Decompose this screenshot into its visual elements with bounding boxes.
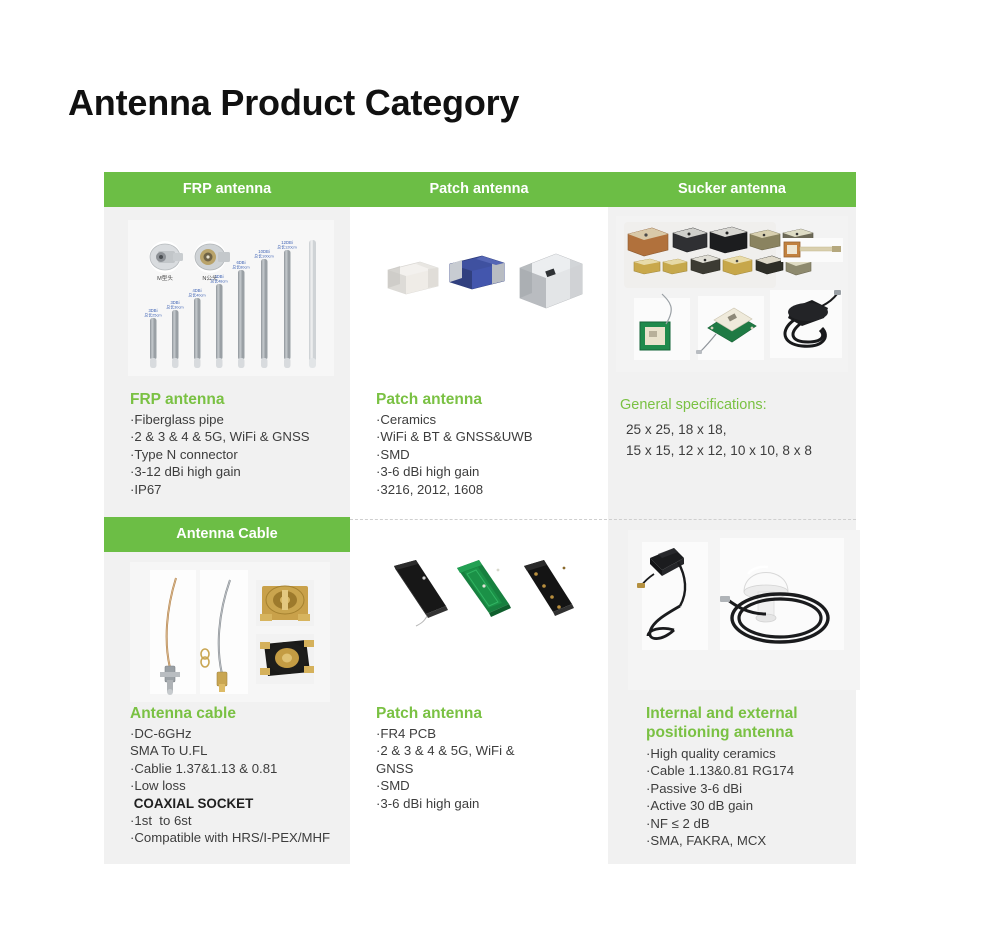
page-title: Antenna Product Category bbox=[68, 82, 519, 124]
svg-text:总长25cm: 总长25cm bbox=[144, 313, 161, 318]
header-sucker-antenna: Sucker antenna bbox=[608, 172, 856, 207]
patch-bottom-spec-1: ·2 & 3 & 4 & 5G, WiFi & bbox=[376, 742, 586, 759]
svg-text:总长120cm: 总长120cm bbox=[277, 245, 296, 250]
patch-bottom-spec-4: ·3-6 dBi high gain bbox=[376, 795, 586, 812]
positioning-antenna-heading-line1: Internal and external bbox=[646, 704, 861, 723]
frp-spec-3: ·3-12 dBi high gain bbox=[130, 463, 345, 480]
header-patch-antenna: Patch antenna bbox=[350, 172, 608, 207]
general-specifications-title: General specifications: bbox=[620, 394, 860, 416]
positioning-spec-0: ·High quality ceramics bbox=[646, 745, 861, 762]
frp-spec-4: ·IP67 bbox=[130, 481, 345, 498]
smd-chip-antennas-icon bbox=[376, 232, 586, 342]
positioning-antenna-photo bbox=[628, 530, 860, 690]
patch-bottom-spec-2: GNSS bbox=[376, 760, 586, 777]
cable-spec-2: ·Cablie 1.37&1.13 & 0.81 bbox=[130, 760, 355, 777]
product-grid: FRP antenna Patch antenna Sucker antenna… bbox=[104, 172, 856, 864]
positioning-spec-5: ·SMA, FAKRA, MCX bbox=[646, 832, 861, 849]
positioning-antenna-text: Internal and external positioning antenn… bbox=[646, 704, 861, 849]
svg-text:M型头: M型头 bbox=[157, 274, 173, 282]
frp-antenna-text: FRP antenna ·Fiberglass pipe ·2 & 3 & 4 … bbox=[130, 390, 345, 498]
svg-text:总长100cm: 总长100cm bbox=[254, 254, 273, 259]
patch-antenna-top-text: Patch antenna ·Ceramics ·WiFi & BT & GNS… bbox=[376, 390, 601, 498]
patch-top-spec-1: ·WiFi & BT & GNSS&UWB bbox=[376, 428, 601, 445]
patch-antenna-bottom-heading: Patch antenna bbox=[376, 704, 586, 723]
positioning-antenna-heading-line2: positioning antenna bbox=[646, 723, 861, 742]
frp-antenna-photo: M型头 N公头 3DBi 总长25cm bbox=[128, 220, 334, 376]
cable-spec-1: SMA To U.FL bbox=[130, 742, 355, 759]
pcb-strip-antenna-photo bbox=[372, 550, 592, 662]
svg-text:总长30cm: 总长30cm bbox=[166, 305, 183, 310]
header-frp-antenna: FRP antenna bbox=[104, 172, 350, 207]
positioning-spec-3: ·Active 30 dB gain bbox=[646, 797, 861, 814]
positioning-spec-4: ·NF ≤ 2 dB bbox=[646, 815, 861, 832]
patch-top-spec-3: ·3-6 dBi high gain bbox=[376, 463, 601, 480]
patch-top-spec-0: ·Ceramics bbox=[376, 411, 601, 428]
svg-text:总长80cm: 总长80cm bbox=[232, 265, 249, 270]
sucker-antenna-photo bbox=[616, 216, 848, 372]
patch-top-spec-4: ·3216, 2012, 1608 bbox=[376, 481, 601, 498]
cable-spec-5: ·1st to 6st bbox=[130, 812, 355, 829]
antenna-product-category-page: Antenna Product Category FRP antenna Pat… bbox=[0, 0, 983, 945]
cable-spec-4: COAXIAL SOCKET bbox=[130, 795, 355, 812]
sucker-antenna-text: General specifications: 25 x 25, 18 x 18… bbox=[620, 394, 860, 461]
svg-text:总长48cm: 总长48cm bbox=[210, 279, 227, 284]
patch-bottom-spec-0: ·FR4 PCB bbox=[376, 725, 586, 742]
svg-text:总长40cm: 总长40cm bbox=[188, 293, 205, 298]
gnss-positioning-antennas-icon bbox=[628, 530, 860, 690]
frp-spec-0: ·Fiberglass pipe bbox=[130, 411, 345, 428]
frp-spec-1: ·2 & 3 & 4 & 5G, WiFi & GNSS bbox=[130, 428, 345, 445]
cable-spec-0: ·DC-6GHz bbox=[130, 725, 355, 742]
patch-bottom-spec-3: ·SMD bbox=[376, 777, 586, 794]
frp-antenna-heading: FRP antenna bbox=[130, 390, 345, 409]
antenna-cable-text: Antenna cable ·DC-6GHz SMA To U.FL ·Cabl… bbox=[130, 704, 355, 847]
patch-antenna-photo bbox=[376, 232, 586, 342]
patch-top-spec-2: ·SMD bbox=[376, 446, 601, 463]
general-specifications-line-1: 15 x 15, 12 x 12, 10 x 10, 8 x 8 bbox=[620, 440, 860, 461]
antenna-cable-photo bbox=[130, 562, 330, 702]
frp-spec-2: ·Type N connector bbox=[130, 446, 345, 463]
positioning-spec-2: ·Passive 3-6 dBi bbox=[646, 780, 861, 797]
patch-antenna-bottom-text: Patch antenna ·FR4 PCB ·2 & 3 & 4 & 5G, … bbox=[376, 704, 586, 812]
patch-antenna-top-heading: Patch antenna bbox=[376, 390, 601, 409]
antenna-cable-heading: Antenna cable bbox=[130, 704, 355, 723]
pcb-strip-antennas-icon bbox=[372, 550, 592, 662]
ceramic-patch-antennas-icon bbox=[616, 216, 848, 372]
general-specifications-line-0: 25 x 25, 18 x 18, bbox=[620, 419, 860, 440]
row-divider bbox=[350, 519, 856, 520]
coax-cable-assemblies-icon bbox=[130, 562, 330, 702]
cable-spec-6: ·Compatible with HRS/I-PEX/MHF bbox=[130, 829, 355, 846]
positioning-spec-1: ·Cable 1.13&0.81 RG174 bbox=[646, 762, 861, 779]
header-antenna-cable: Antenna Cable bbox=[104, 517, 350, 552]
frp-antenna-rods-icon: M型头 N公头 3DBi 总长25cm bbox=[128, 220, 334, 376]
cable-spec-3: ·Low loss bbox=[130, 777, 355, 794]
